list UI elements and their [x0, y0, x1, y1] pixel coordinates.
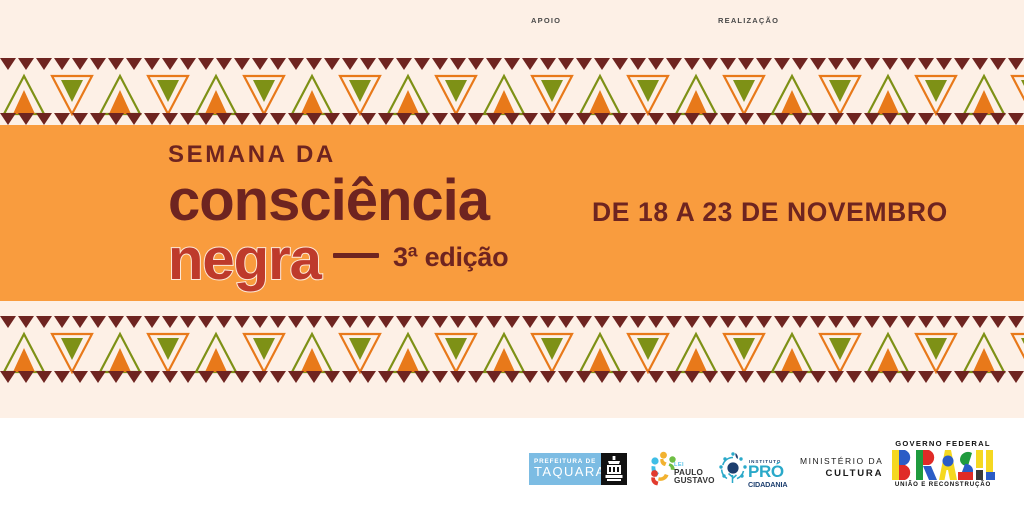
ornament-band-bottom — [0, 316, 1024, 384]
pro-line3: CIDADANIA — [748, 480, 787, 489]
pro-line2: PRÓ — [748, 463, 784, 480]
micro-triangle-row-bottom-upper — [0, 316, 1024, 329]
realizacao-label: REALIZAÇÃO — [718, 16, 779, 25]
taquara-line2: TAQUARA — [534, 465, 601, 479]
paulo-gustavo-wordmark: LEI PAULO GUSTAVO — [674, 463, 715, 486]
logo-lei-paulo-gustavo: LEI PAULO GUSTAVO — [648, 451, 710, 489]
pro-cidadania-emblem-icon — [717, 451, 751, 487]
micro-triangle-row-top-upper — [0, 58, 1024, 71]
logo-ministerio-cultura: MINISTÉRIO DA CULTURA — [800, 455, 883, 481]
brasil-brandmark-icon — [890, 450, 996, 480]
taquara-blue-panel: PREFEITURA DE TAQUARA — [529, 453, 601, 485]
hero-title-block: SEMANA DA consciência negra 3ª edição — [168, 143, 508, 291]
hero-banner: SEMANA DA consciência negra 3ª edição DE… — [0, 125, 1024, 301]
micro-triangle-row-bottom-lower — [0, 371, 1024, 384]
hero-edition: 3ª edição — [393, 244, 508, 271]
taquara-crest-icon — [604, 456, 624, 482]
gov-line3: UNIÃO E RECONSTRUÇÃO — [890, 481, 996, 488]
hero-title-line2: negra — [168, 230, 321, 291]
lpg-line3: GUSTAVO — [674, 477, 715, 486]
hero-title-row2: negra 3ª edição — [168, 230, 508, 291]
logo-prefeitura-taquara: PREFEITURA DE TAQUARA — [529, 453, 627, 485]
big-triangle-row-bottom — [0, 330, 1024, 374]
minc-line1: MINISTÉRIO DA — [800, 455, 883, 467]
hero-kicker: SEMANA DA — [168, 143, 508, 167]
big-triangle-row-top — [0, 72, 1024, 116]
divider-dash — [333, 253, 379, 258]
poster-canvas: SEMANA DA consciência negra 3ª edição DE… — [0, 0, 1024, 512]
ornament-band-top — [0, 58, 1024, 126]
apoio-label: APOIO — [531, 16, 561, 25]
logo-governo-federal: GOVERNO FEDERAL UNIÃO E RECONSTRUÇÃO — [890, 439, 996, 489]
hero-title-line1: consciência — [168, 171, 508, 232]
taquara-crest-panel — [601, 453, 627, 485]
logo-pro-cidadania: INSTITUTO PRÓ CIDADANIA — [717, 451, 789, 489]
minc-line2: CULTURA — [800, 467, 883, 481]
hero-date: DE 18 A 23 DE NOVEMBRO — [592, 197, 948, 228]
gov-line1: GOVERNO FEDERAL — [890, 439, 996, 448]
